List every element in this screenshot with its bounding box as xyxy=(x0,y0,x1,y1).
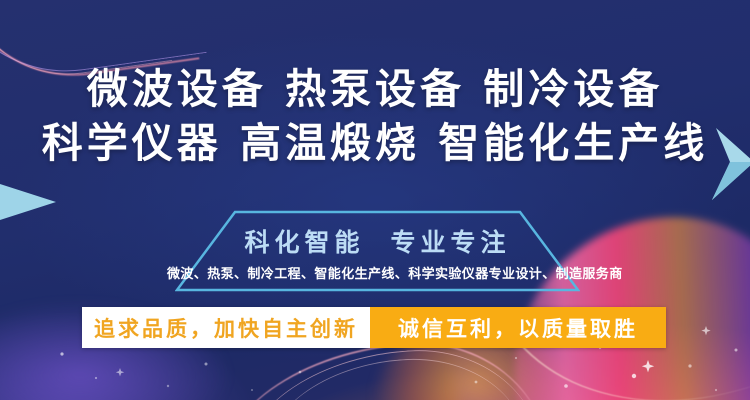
slogan-left: 追求品质，加快自主创新 xyxy=(82,307,370,348)
light-wave-center-2-icon xyxy=(235,342,542,400)
slogan-right: 诚信互利，以质量取胜 xyxy=(370,307,666,348)
plaque-title-right: 专业专注 xyxy=(391,228,511,257)
headline-block: 微波设备 热泵设备 制冷设备 科学仪器 高温煅烧 智能化生产线 xyxy=(0,62,750,170)
headline-line-1: 微波设备 热泵设备 制冷设备 xyxy=(0,62,750,116)
slogan-bar: 追求品质，加快自主创新 诚信互利，以质量取胜 xyxy=(82,307,666,348)
center-plaque: 科化智能专业专注 微波、热泵、制冷工程、智能化生产线、科学实验仪器专业设计、制造… xyxy=(175,209,580,293)
plaque-title-left: 科化智能 xyxy=(244,228,364,257)
plaque-subtitle: 微波、热泵、制冷工程、智能化生产线、科学实验仪器专业设计、制造服务商 xyxy=(167,263,588,282)
light-wave-center-3-icon xyxy=(259,351,527,400)
headline-line-2: 科学仪器 高温煅烧 智能化生产线 xyxy=(0,116,750,170)
triangle-arrow-left-icon xyxy=(0,180,56,220)
promo-banner: 微波设备 热泵设备 制冷设备 科学仪器 高温煅烧 智能化生产线 科化智能专业专注… xyxy=(0,0,750,400)
plaque-title: 科化智能专业专注 xyxy=(175,223,580,259)
